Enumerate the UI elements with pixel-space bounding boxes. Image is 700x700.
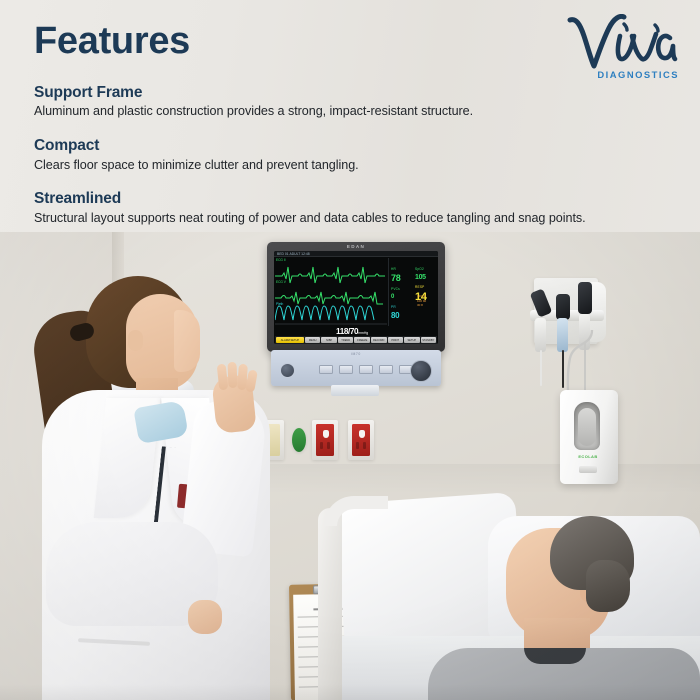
- feature-heading: Compact: [34, 137, 666, 156]
- toolbar-button-menu[interactable]: MENU: [305, 337, 321, 343]
- hospital-bed: [318, 468, 700, 700]
- function-key-1[interactable]: [319, 365, 333, 374]
- clinician-lower-hand: [188, 600, 222, 634]
- outlet-slot: [363, 442, 366, 449]
- toolbar-button-setup[interactable]: SETUP: [404, 337, 420, 343]
- toolbar-button-trend[interactable]: TREND: [338, 337, 354, 343]
- nibp-unit: mmHg: [358, 331, 368, 335]
- feature-description: Clears floor space to minimize clutter a…: [34, 157, 666, 174]
- outlet-faceplate: [316, 424, 334, 456]
- feature-item-streamlined: Streamlined Structural layout supports n…: [34, 190, 666, 226]
- sanitizer-fluid-level: [578, 408, 596, 446]
- feature-heading: Support Frame: [34, 84, 666, 103]
- feature-description: Structural layout supports neat routing …: [34, 210, 666, 227]
- monitor-toolbar[interactable]: ALARM SETUP MENU NIBP TREND FREEZE RECOR…: [275, 336, 437, 344]
- numeric-readout-area: HR 78 SpO2 105 PVCs 0 RESP: [388, 258, 438, 326]
- toolbar-button-alarm-setup[interactable]: ALARM SETUP: [276, 337, 304, 343]
- emergency-outlet: [312, 420, 338, 460]
- monitor-bezel: EDAN BED 01 ADULT 12:48: [267, 242, 445, 352]
- power-button[interactable]: [280, 363, 295, 378]
- monitor-control-panel[interactable]: iM70: [271, 350, 441, 386]
- clinician-face-profile: [174, 310, 200, 372]
- hospital-room-photo: ECOLAB EDAN BED 01 ADULT 12:48: [0, 232, 700, 700]
- monitor-screen[interactable]: BED 01 ADULT 12:48 E: [274, 251, 438, 344]
- readout-label: RESP: [415, 285, 424, 289]
- navigation-knob[interactable]: [410, 360, 432, 382]
- poster-canvas: Features Support Frame Aluminum and plas…: [0, 0, 700, 700]
- outlet-faceplate: [352, 424, 370, 456]
- bed-side-rail: [318, 508, 342, 700]
- sanitizer-brand-logo: ECOLAB: [568, 454, 608, 459]
- bed-rail-curve: [324, 496, 388, 526]
- clinician-figure: [28, 252, 278, 700]
- finger: [217, 364, 229, 391]
- toolbar-button-standby[interactable]: STANDBY: [421, 337, 437, 343]
- outlet-slot: [320, 442, 323, 449]
- brand-subtitle: DIAGNOSTICS: [597, 69, 679, 80]
- monitor-model-label: iM70: [271, 352, 441, 356]
- function-key-3[interactable]: [359, 365, 373, 374]
- monitor-brand-label: EDAN: [267, 244, 445, 249]
- feature-item-support-frame: Support Frame Aluminum and plastic const…: [34, 84, 666, 120]
- specula-head-icon: [578, 282, 592, 314]
- viva-wordmark-icon: [562, 14, 682, 74]
- readout-label: HR: [391, 267, 396, 271]
- feature-description: Aluminum and plastic construction provid…: [34, 103, 666, 120]
- feature-heading: Streamlined: [34, 190, 666, 209]
- emergency-outlet: [348, 420, 374, 460]
- oxygen-indicator: [292, 428, 306, 452]
- outlet-ground-icon: [323, 430, 329, 438]
- patient-hair-side: [586, 560, 630, 612]
- finger: [228, 362, 238, 388]
- brand-logo: DIAGNOSTICS: [562, 14, 682, 86]
- otoscope-cord: [540, 350, 542, 386]
- feature-item-compact: Compact Clears floor space to minimize c…: [34, 137, 666, 173]
- monitor-mount-clamp: [331, 385, 379, 396]
- nibp-value: 118/70: [336, 327, 358, 336]
- function-key-2[interactable]: [339, 365, 353, 374]
- monitor-status-bar: BED 01 ADULT 12:48: [274, 251, 438, 257]
- readout-alarm-limits: 120 50100 9030 8: [415, 294, 428, 308]
- ophthalmoscope-head-icon: [556, 294, 570, 320]
- waveform-traces: [275, 258, 387, 326]
- toolbar-button-print[interactable]: PRINT: [388, 337, 404, 343]
- readout-label: PVCs: [391, 287, 400, 291]
- clinician-ear: [128, 330, 143, 351]
- waveform-area: ECG II ECG V Pleth: [275, 258, 387, 326]
- patient-monitor[interactable]: EDAN BED 01 ADULT 12:48: [267, 242, 445, 384]
- readout-label: PR: [391, 305, 396, 309]
- toolbar-button-freeze[interactable]: FREEZE: [354, 337, 370, 343]
- patient-shirt-collar: [524, 648, 586, 664]
- outlet-slot: [356, 442, 359, 449]
- outlet-slot: [327, 442, 330, 449]
- sanitizer-hose-icon: [548, 328, 596, 394]
- toolbar-button-record[interactable]: RECORD: [371, 337, 387, 343]
- otoscope-handle: [535, 318, 546, 352]
- function-key-4[interactable]: [379, 365, 393, 374]
- readout-label: SpO2: [415, 267, 424, 271]
- readout-pr: PR 80: [389, 296, 401, 320]
- floor-shadow: [0, 684, 700, 700]
- readout-value: 80: [391, 312, 399, 320]
- outlet-ground-icon: [359, 430, 365, 438]
- toolbar-button-nibp[interactable]: NIBP: [321, 337, 337, 343]
